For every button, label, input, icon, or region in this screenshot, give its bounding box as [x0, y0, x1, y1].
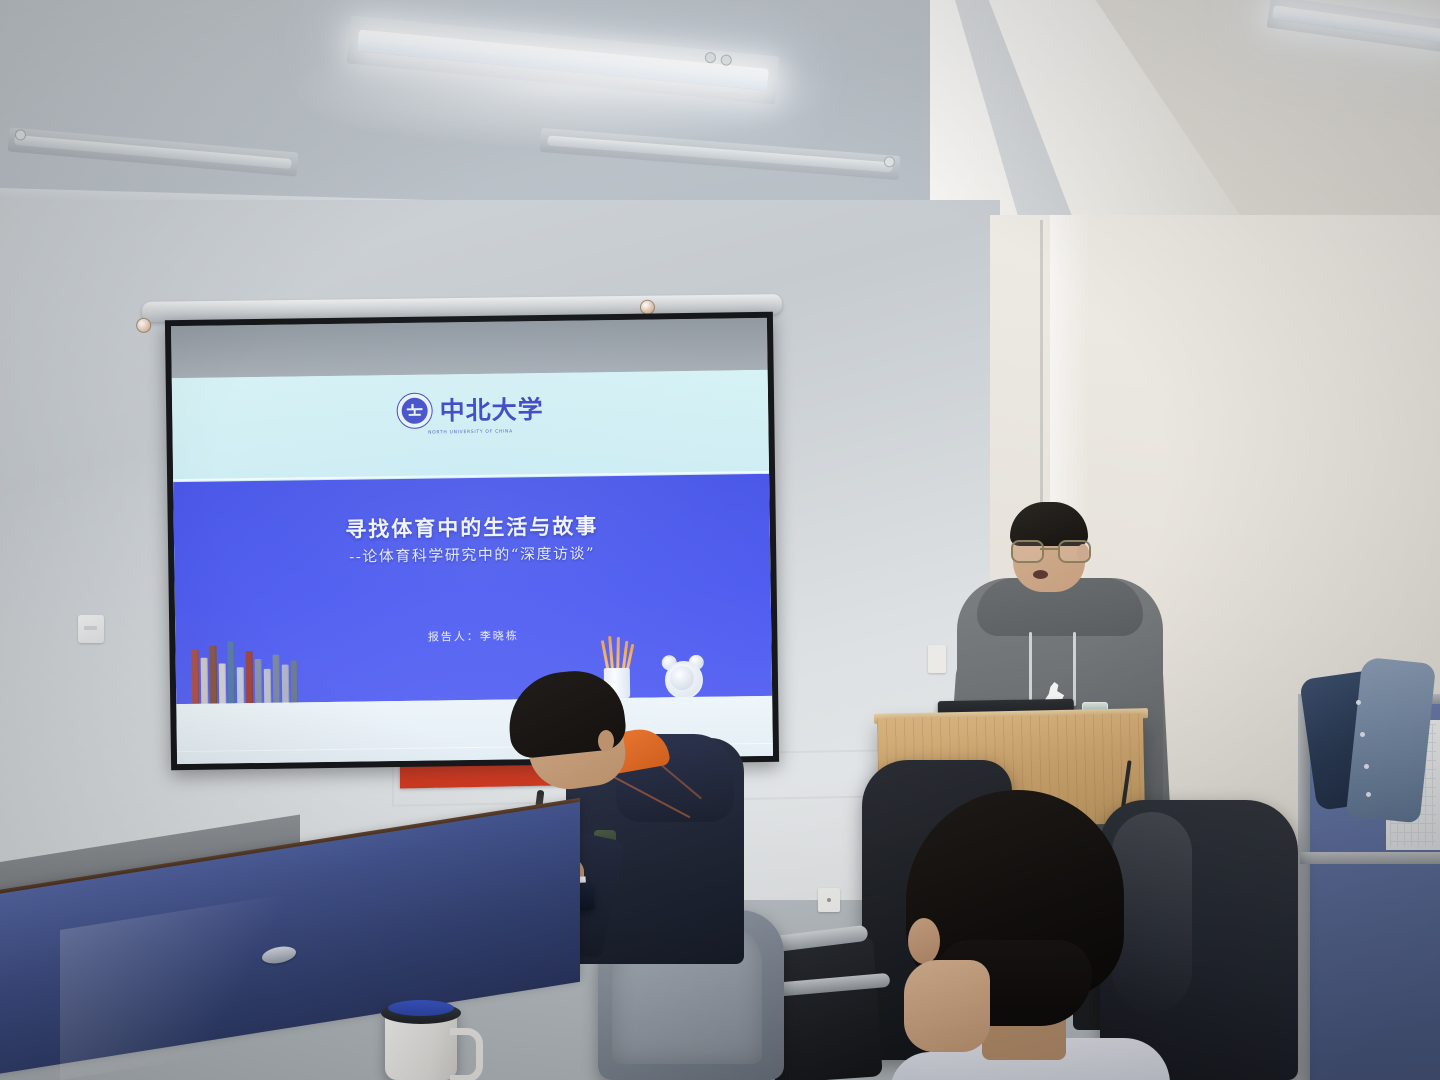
foreground-attendee [890, 790, 1220, 1080]
speaker-drawstring-right [1073, 632, 1076, 706]
denim-jacket [1308, 660, 1436, 830]
foreground-hand-on-chin [904, 960, 990, 1052]
jacket-button-4 [1366, 792, 1371, 797]
light-switch[interactable] [78, 615, 104, 643]
pencils-decoration [601, 636, 633, 670]
book-9 [264, 669, 271, 703]
jacket-light-panel [1346, 657, 1436, 824]
jacket-button-2 [1360, 732, 1365, 737]
screen-blank-band [171, 318, 768, 378]
book-1 [191, 650, 199, 704]
book-12 [291, 660, 299, 702]
jacket-button-1 [1356, 700, 1361, 705]
university-logo: 中北大学 [396, 391, 544, 429]
wall-plate [928, 645, 946, 673]
university-name-cn: 中北大学 [439, 396, 543, 422]
foreground-ear [908, 918, 940, 964]
power-outlet [818, 888, 840, 912]
university-name-en: NORTH UNIVERSITY OF CHINA [428, 429, 513, 435]
glasses-lens-right [1058, 540, 1091, 563]
pencil-3 [616, 637, 620, 670]
book-8 [255, 659, 263, 703]
mug-blue-lid [388, 1000, 454, 1016]
presentation-room-photo: 中北大学 NORTH UNIVERSITY OF CHINA 寻找体育中的生活与… [0, 0, 1440, 1080]
jacket-button-3 [1364, 764, 1369, 769]
slide-header-band: 中北大学 NORTH UNIVERSITY OF CHINA [172, 370, 769, 482]
speaker-mouth [1033, 570, 1048, 579]
glasses-lens-left [1011, 540, 1044, 563]
book-5 [227, 641, 235, 703]
books-decoration [191, 636, 298, 703]
pencil-2 [608, 636, 614, 670]
attendee-ear [598, 730, 614, 752]
book-10 [273, 655, 281, 703]
eyeglasses-icon [1011, 540, 1087, 559]
book-2 [201, 658, 209, 704]
university-seal-icon [396, 393, 432, 429]
book-3 [209, 646, 217, 704]
mug-handle [450, 1028, 483, 1080]
glasses-bridge [1040, 548, 1058, 550]
book-4 [219, 663, 227, 703]
book-11 [282, 665, 290, 703]
book-6 [237, 667, 245, 703]
partition-horizontal-rail [1300, 852, 1440, 864]
speaker-drawstring-left [1029, 632, 1032, 706]
roller-knob-left [136, 318, 151, 333]
slide-body: 寻找体育中的生活与故事 --论体育科学研究中的“深度访谈” 报告人：李晓栋 [173, 474, 772, 704]
book-7 [246, 651, 254, 703]
